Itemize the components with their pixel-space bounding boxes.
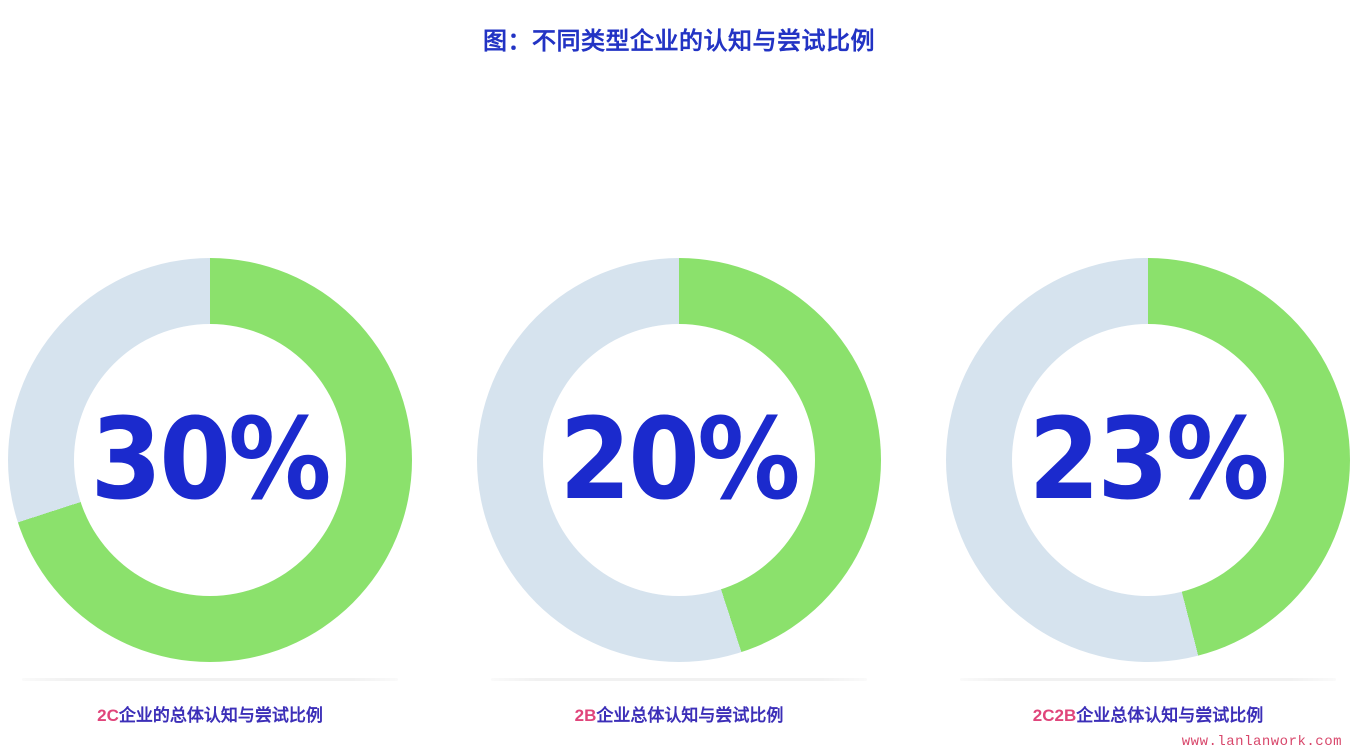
donut-value-label: 30%: [91, 404, 329, 516]
donut-hole: 30%: [74, 324, 346, 596]
donut-chart-2c2b: 23%: [946, 258, 1350, 662]
panel-divider: [22, 678, 398, 681]
donut-caption-code: 2C: [97, 706, 119, 725]
donut-caption: 2C企业的总体认知与尝试比例: [0, 701, 420, 726]
donut-chart-2c: 30%: [8, 258, 412, 662]
donut-chart-2b: 20%: [477, 258, 881, 662]
donut-hole: 20%: [543, 324, 815, 596]
panel-divider: [960, 678, 1336, 681]
donut-caption: 2C2B企业总体认知与尝试比例: [938, 701, 1358, 726]
donut-hole: 23%: [1012, 324, 1284, 596]
donut-value-label: 23%: [1029, 404, 1267, 516]
donut-caption-text: 企业总体认知与尝试比例: [1076, 706, 1263, 725]
donut-panel: 23% 2C2B企业总体认知与尝试比例: [938, 258, 1358, 662]
donut-panel: 30% 2C企业的总体认知与尝试比例: [0, 258, 420, 662]
site-watermark: www.lanlanwork.com: [1182, 734, 1342, 750]
donut-caption-text: 企业总体认知与尝试比例: [596, 706, 783, 725]
page-title: 图：不同类型企业的认知与尝试比例: [0, 21, 1358, 56]
donut-panel: 20% 2B企业总体认知与尝试比例: [469, 258, 889, 662]
donut-caption: 2B企业总体认知与尝试比例: [469, 701, 889, 726]
donut-caption-text: 企业的总体认知与尝试比例: [119, 706, 323, 725]
panel-divider: [491, 678, 867, 681]
donut-caption-code: 2B: [575, 706, 597, 725]
donut-chart-group: 30% 2C企业的总体认知与尝试比例 20% 2B企业总体认知与尝试比例 23%: [0, 258, 1358, 688]
donut-caption-code: 2C2B: [1033, 706, 1076, 725]
donut-value-label: 20%: [560, 404, 798, 516]
